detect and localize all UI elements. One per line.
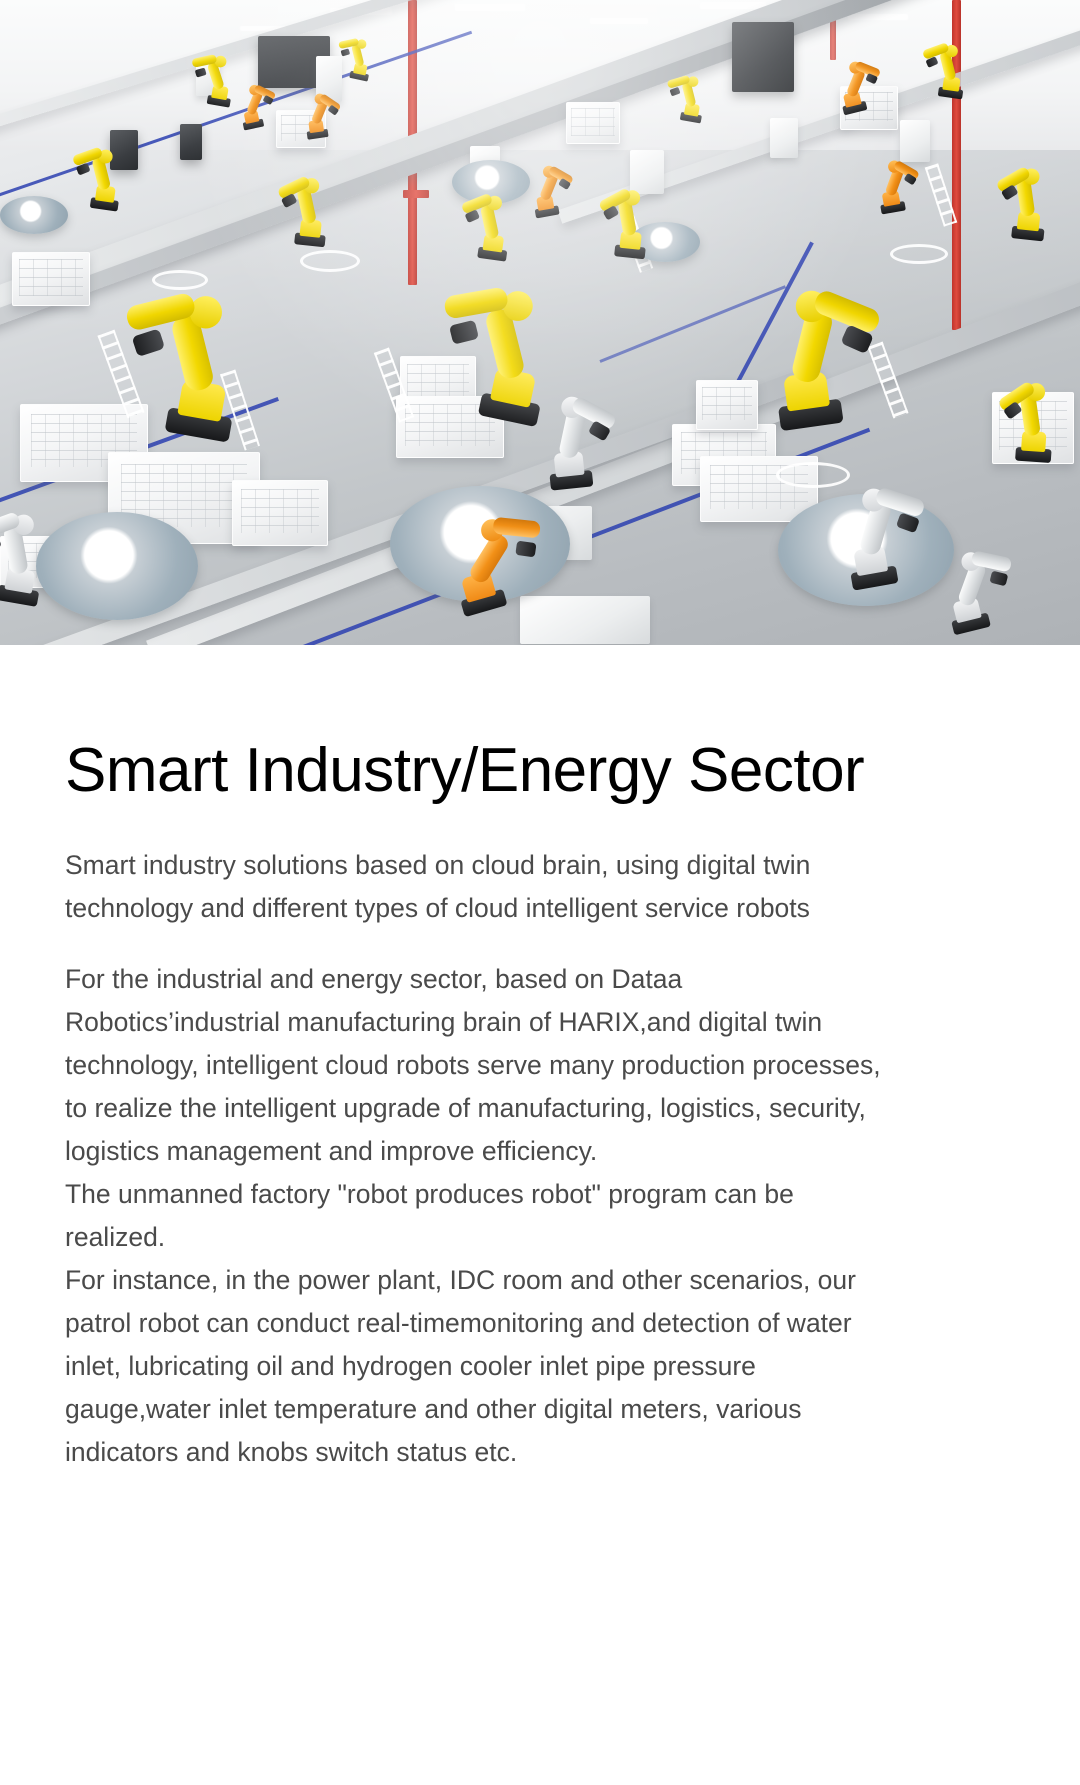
- ceiling-light: [700, 2, 766, 9]
- robot-arm: [1015, 387, 1062, 463]
- white-crate: [900, 120, 930, 162]
- robot-arm: [440, 515, 515, 617]
- robot-base-ring: [776, 462, 850, 488]
- robot-base-ring: [300, 250, 360, 272]
- machine-enclosure: [180, 124, 202, 160]
- ceiling-light: [848, 14, 908, 20]
- part-rack: [232, 480, 328, 546]
- robot-arm: [477, 199, 519, 263]
- part-rack: [566, 102, 620, 144]
- robot-wrist: [132, 328, 166, 357]
- robot-base-ring: [152, 270, 208, 290]
- robot-arm: [542, 398, 601, 490]
- ceiling-light: [590, 18, 648, 24]
- robot-base-ring: [890, 244, 948, 264]
- turntable-disc: [0, 196, 68, 234]
- robot-arm: [302, 93, 333, 139]
- robot-arm: [90, 151, 130, 212]
- robot-arm: [1011, 172, 1056, 242]
- support-pillar-red: [403, 190, 429, 198]
- white-crate: [770, 118, 798, 158]
- paragraph-patrol: For instance, in the power plant, IDC ro…: [65, 1259, 895, 1474]
- robot-arm: [873, 160, 910, 215]
- machine-enclosure: [732, 22, 794, 92]
- part-rack: [12, 252, 90, 306]
- paragraph-lead: Smart industry solutions based on cloud …: [65, 844, 895, 930]
- floor-guide-line: [599, 285, 786, 363]
- body-copy: Smart industry solutions based on cloud …: [65, 844, 1015, 1474]
- hero-image: [0, 0, 1080, 645]
- robot-wrist: [449, 320, 479, 345]
- paragraph-unmanned: The unmanned factory "robot produces rob…: [65, 1173, 895, 1259]
- content-section: Smart Industry/Energy Sector Smart indus…: [0, 740, 1080, 1474]
- white-crate: [630, 150, 664, 194]
- robot-wrist: [989, 571, 1008, 587]
- white-crate: [520, 596, 650, 644]
- robot-arm: [294, 181, 336, 247]
- robot-arm: [614, 193, 656, 259]
- robot-arm: [528, 165, 564, 218]
- turntable-disc: [36, 512, 198, 620]
- page-title: Smart Industry/Energy Sector: [65, 740, 1015, 802]
- ceiling-light: [455, 4, 525, 11]
- part-rack: [696, 380, 758, 430]
- paragraph-harix: For the industrial and energy sector, ba…: [65, 958, 895, 1173]
- robot-wrist: [515, 541, 536, 558]
- factory-scene-render: [0, 0, 1080, 645]
- robot-arm: [936, 550, 997, 635]
